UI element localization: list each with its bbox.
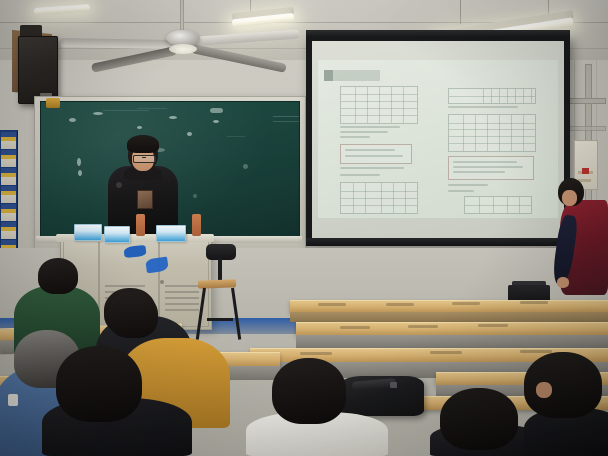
stool-back-stem — [218, 258, 222, 282]
carton-item[interactable] — [156, 225, 186, 242]
student-far-right-head — [524, 352, 602, 418]
notice-cell — [1, 222, 16, 240]
document-note-box — [340, 144, 412, 164]
eyeglasses-bridge — [142, 157, 146, 158]
ceiling-fan-light[interactable] — [169, 44, 197, 54]
notice-marker — [582, 168, 589, 174]
assistant-hand — [557, 277, 569, 288]
document-table — [448, 114, 536, 152]
board-magnet — [210, 108, 223, 113]
ceiling-fan-blade — [60, 38, 170, 49]
notice-cell — [1, 132, 16, 150]
presenter-chest-graphic — [137, 190, 153, 209]
bottle-item[interactable] — [192, 214, 201, 236]
notice-cell — [1, 204, 16, 222]
backpack-buckle — [390, 382, 397, 388]
denim-pocket-detail — [8, 394, 18, 406]
document-table — [464, 196, 532, 214]
board-clip — [46, 98, 60, 108]
presenter-sleeve-detail — [116, 182, 122, 188]
carton-item[interactable] — [104, 226, 130, 243]
stool-crossbar — [207, 318, 233, 321]
assistant-face — [562, 190, 577, 206]
document-header-accent — [324, 70, 333, 81]
light-wire — [460, 0, 461, 24]
document-table — [448, 88, 536, 104]
notice-cell — [1, 168, 16, 186]
podium-knob[interactable] — [160, 280, 164, 284]
desk-row[interactable] — [296, 322, 608, 336]
classroom-photo — [0, 0, 608, 456]
notice-cell — [1, 186, 16, 204]
student-far-right-ear — [536, 382, 552, 398]
document-note-box — [448, 156, 534, 180]
bottle-item[interactable] — [136, 214, 145, 236]
student-white-shirt-head — [272, 358, 346, 424]
screen-weight-bar — [306, 238, 570, 246]
ceiling-fan-rod — [180, 0, 184, 34]
carton-item[interactable] — [74, 224, 102, 241]
document-table — [340, 86, 418, 124]
notice-cell — [1, 150, 16, 168]
presenter-hair — [127, 135, 159, 153]
desk-front-panel — [290, 312, 608, 322]
student-mustard-head — [108, 292, 158, 338]
document-table — [340, 182, 418, 214]
desk-riser — [296, 335, 608, 349]
student-right-head — [440, 388, 518, 450]
student-green-jacket-head — [38, 258, 78, 294]
student-front-head — [56, 346, 142, 422]
wall-speaker-icon — [18, 36, 58, 104]
projected-document — [318, 60, 558, 218]
